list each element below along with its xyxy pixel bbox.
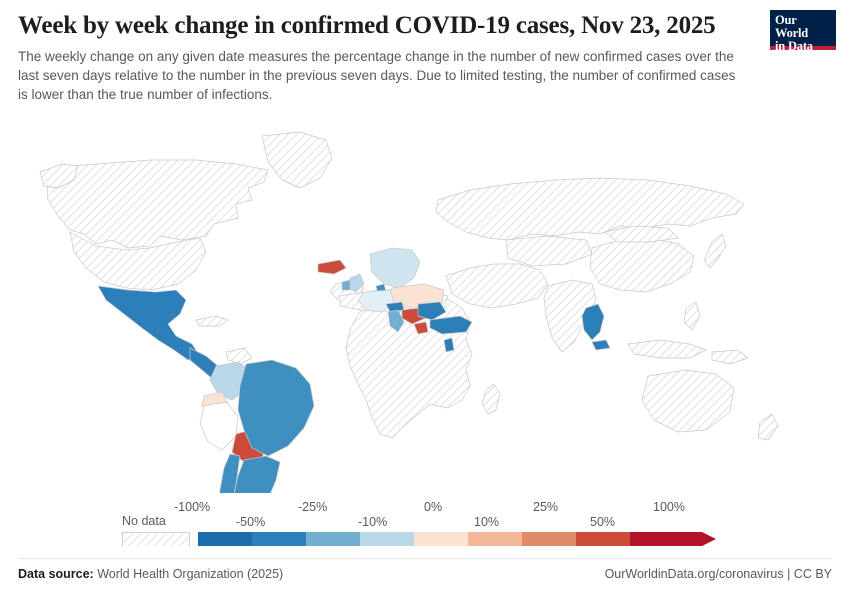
country-iceland-value[interactable] bbox=[318, 260, 346, 274]
legend-tick-100: 100% bbox=[653, 500, 685, 514]
license-label[interactable]: CC BY bbox=[794, 567, 832, 581]
legend-tick-50: 50% bbox=[590, 515, 615, 529]
country-canada[interactable] bbox=[46, 160, 268, 248]
footer-separator: | bbox=[787, 567, 790, 581]
footer-links: OurWorldinData.org/coronavirus | CC BY bbox=[605, 567, 832, 581]
owid-logo-line1: Our World bbox=[775, 14, 831, 40]
country-peru-value[interactable] bbox=[200, 402, 238, 450]
country-madagascar[interactable] bbox=[482, 384, 500, 414]
owid-map-chart: Week by week change in confirmed COVID-1… bbox=[0, 0, 850, 600]
country-scandinavia-value[interactable] bbox=[370, 248, 420, 288]
legend-seg-8 bbox=[630, 532, 702, 546]
country-japan[interactable] bbox=[704, 234, 726, 268]
country-middle-east[interactable] bbox=[446, 264, 548, 308]
legend-tick-10: 10% bbox=[474, 515, 499, 529]
country-thailand-value[interactable] bbox=[582, 304, 604, 340]
country-caribbean[interactable] bbox=[196, 316, 228, 326]
country-australia[interactable] bbox=[642, 370, 734, 432]
legend-tick-0: 0% bbox=[424, 500, 442, 514]
legend-tick--25: -25% bbox=[298, 500, 327, 514]
country-ireland-value[interactable] bbox=[342, 280, 350, 290]
legend-seg-2 bbox=[306, 532, 360, 546]
data-source: Data source: World Health Organization (… bbox=[18, 567, 283, 581]
country-new-zealand[interactable] bbox=[758, 414, 778, 440]
country-philippines[interactable] bbox=[684, 302, 700, 330]
legend-seg-6 bbox=[522, 532, 576, 546]
country-russia[interactable] bbox=[436, 178, 744, 240]
legend-seg-1 bbox=[252, 532, 306, 546]
country-malaysia-value[interactable] bbox=[592, 340, 610, 350]
legend-no-data-label: No data bbox=[122, 514, 166, 528]
country-mongolia[interactable] bbox=[604, 226, 678, 242]
country-indonesia[interactable] bbox=[628, 340, 706, 358]
legend-seg-7 bbox=[576, 532, 630, 546]
data-source-value: World Health Organization (2025) bbox=[97, 567, 283, 581]
legend-tick--100: -100% bbox=[174, 500, 210, 514]
legend-tick--10: -10% bbox=[358, 515, 387, 529]
country-guyanas[interactable] bbox=[226, 348, 252, 364]
legend-no-data-swatch[interactable] bbox=[122, 532, 190, 546]
legend-seg-5 bbox=[468, 532, 522, 546]
page-title: Week by week change in confirmed COVID-1… bbox=[18, 12, 715, 40]
owid-logo[interactable]: Our World in Data bbox=[770, 10, 836, 50]
site-url[interactable]: OurWorldinData.org/coronavirus bbox=[605, 567, 784, 581]
country-greenland[interactable] bbox=[262, 132, 332, 188]
country-mexico-value[interactable] bbox=[98, 286, 200, 360]
chart-subtitle: The weekly change on any given date meas… bbox=[18, 47, 748, 104]
legend-seg-3 bbox=[360, 532, 414, 546]
legend-seg-4 bbox=[414, 532, 468, 546]
country-china[interactable] bbox=[590, 238, 694, 292]
country-israel-value[interactable] bbox=[444, 338, 454, 352]
legend-arrow-icon bbox=[702, 532, 716, 546]
footer-divider bbox=[18, 558, 832, 559]
country-kazakhstan[interactable] bbox=[506, 236, 592, 266]
data-source-label: Data source: bbox=[18, 567, 94, 581]
owid-logo-line2: in Data bbox=[775, 40, 831, 53]
country-brazil-value[interactable] bbox=[238, 360, 314, 456]
legend-tick--50: -50% bbox=[236, 515, 265, 529]
country-papua-new-guinea[interactable] bbox=[712, 350, 748, 364]
legend-seg-0 bbox=[198, 532, 252, 546]
world-map[interactable] bbox=[0, 108, 850, 493]
map-legend[interactable]: No data -1 bbox=[0, 498, 850, 550]
legend-tick-25: 25% bbox=[533, 500, 558, 514]
